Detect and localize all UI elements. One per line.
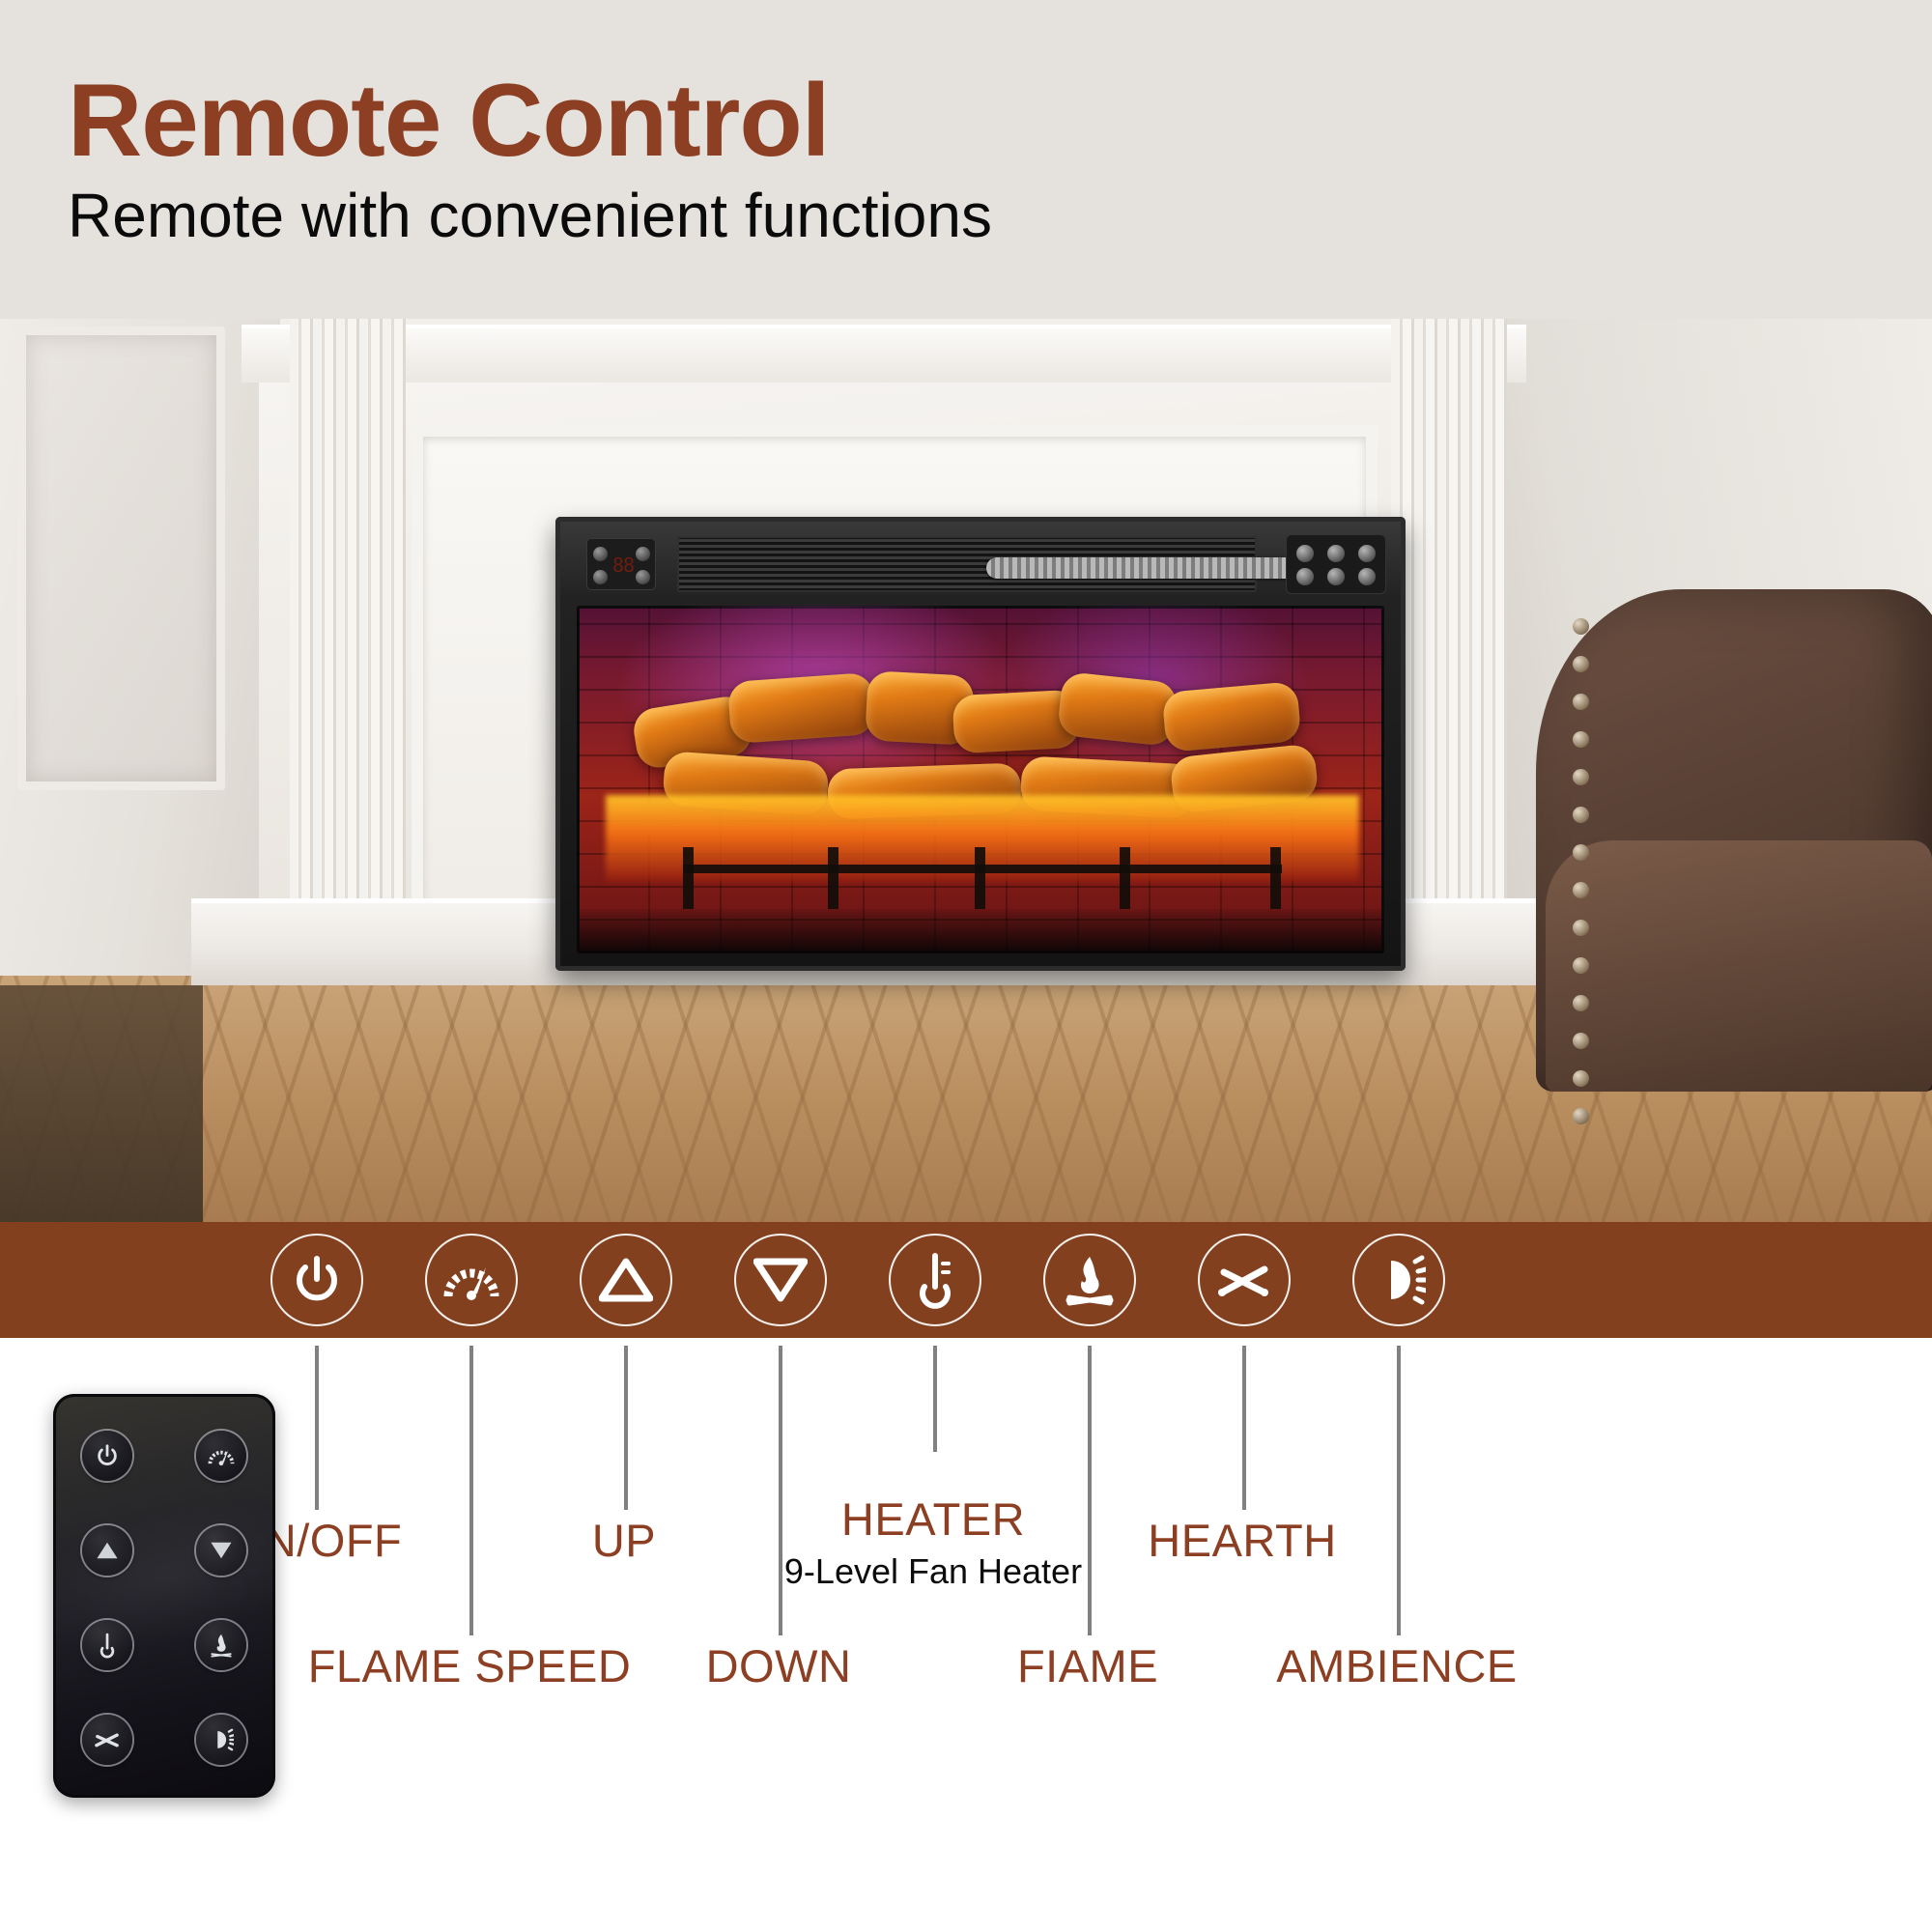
callout-label-hearth: HEARTH <box>1059 1514 1426 1567</box>
insert-key-5[interactable] <box>1327 568 1345 585</box>
remote-flame-button[interactable] <box>196 1620 246 1670</box>
remote-hearth-button[interactable] <box>82 1715 132 1765</box>
insert-flame-button[interactable] <box>593 547 608 561</box>
fireplace-insert: 88 <box>555 517 1406 971</box>
thermometer-icon <box>889 1234 981 1326</box>
firebox-floor-shadow <box>577 909 1384 953</box>
gauge-icon <box>425 1234 518 1326</box>
insert-key-4[interactable] <box>1296 568 1314 585</box>
leader-line-hearth <box>1242 1346 1246 1510</box>
remote-ambience-button[interactable] <box>196 1715 246 1765</box>
insert-key-3[interactable] <box>1358 545 1376 562</box>
infographic-page: Remote Control Remote with convenient fu… <box>0 0 1932 1932</box>
function-icon-strip <box>0 1222 1932 1338</box>
icon-hearth[interactable] <box>1196 1232 1293 1328</box>
icon-heater[interactable] <box>887 1232 983 1328</box>
floor-shadow <box>0 985 203 1222</box>
insert-heating-element <box>986 557 1305 579</box>
insert-key-2[interactable] <box>1327 545 1345 562</box>
remote-flame-speed-button[interactable] <box>196 1431 246 1481</box>
leader-line-flame <box>1088 1346 1092 1635</box>
armchair-arm <box>1546 840 1932 1092</box>
insert-down-button[interactable] <box>636 570 650 584</box>
leader-line-up <box>624 1346 628 1510</box>
insert-led-display: 88 <box>586 538 656 590</box>
armchair-nailhead-trim <box>1573 618 1598 1072</box>
mantel-column-right <box>1391 319 1507 995</box>
crossed-logs-icon <box>1198 1234 1291 1326</box>
insert-key-1[interactable] <box>1296 545 1314 562</box>
triangle-up-icon <box>580 1234 672 1326</box>
power-icon <box>270 1234 363 1326</box>
icon-down[interactable] <box>732 1232 829 1328</box>
icon-power[interactable] <box>269 1232 365 1328</box>
icon-flame[interactable] <box>1041 1232 1138 1328</box>
remote-power-button[interactable] <box>82 1431 132 1481</box>
callout-area: ON/OFF UP HEATER 9-Level Fan Heater HEAR… <box>0 1338 1932 1932</box>
mantel-shelf <box>241 325 1526 383</box>
wall-moulding-panel <box>17 327 225 790</box>
insert-button-panel[interactable] <box>1286 534 1386 594</box>
insert-control-row: 88 <box>569 532 1392 596</box>
icon-flame-speed[interactable] <box>423 1232 520 1328</box>
insert-display-value: 88 <box>612 554 636 576</box>
header-band: Remote Control Remote with convenient fu… <box>0 0 1932 319</box>
flame-display-window <box>577 606 1384 953</box>
remote-down-button[interactable] <box>196 1525 246 1576</box>
leader-line-heater <box>933 1346 937 1452</box>
icon-up[interactable] <box>578 1232 674 1328</box>
leader-line-flame-speed <box>469 1346 473 1635</box>
insert-heater-vent <box>677 536 1257 592</box>
leader-line-ambience <box>1397 1346 1401 1635</box>
campfire-icon <box>1043 1234 1136 1326</box>
callout-label-ambience: AMBIENCE <box>1213 1639 1580 1692</box>
insert-lock-button[interactable] <box>593 570 608 584</box>
triangle-down-icon <box>734 1234 827 1326</box>
brightness-icon <box>1352 1234 1445 1326</box>
insert-up-button[interactable] <box>636 547 650 561</box>
insert-key-6[interactable] <box>1358 568 1376 585</box>
remote-control-photo <box>53 1394 275 1798</box>
remote-heater-button[interactable] <box>82 1620 132 1670</box>
page-title: Remote Control <box>68 66 830 174</box>
fireplace-scene-photo: 88 <box>0 319 1932 1222</box>
page-subtitle: Remote with convenient functions <box>68 184 992 248</box>
icon-ambience[interactable] <box>1350 1232 1447 1328</box>
leader-line-onoff <box>315 1346 319 1510</box>
callout-label-heater-text: HEATER <box>841 1493 1025 1545</box>
leader-line-down <box>779 1346 782 1635</box>
log-grate <box>683 847 1282 915</box>
remote-up-button[interactable] <box>82 1525 132 1576</box>
mantel-column-left <box>290 319 406 995</box>
